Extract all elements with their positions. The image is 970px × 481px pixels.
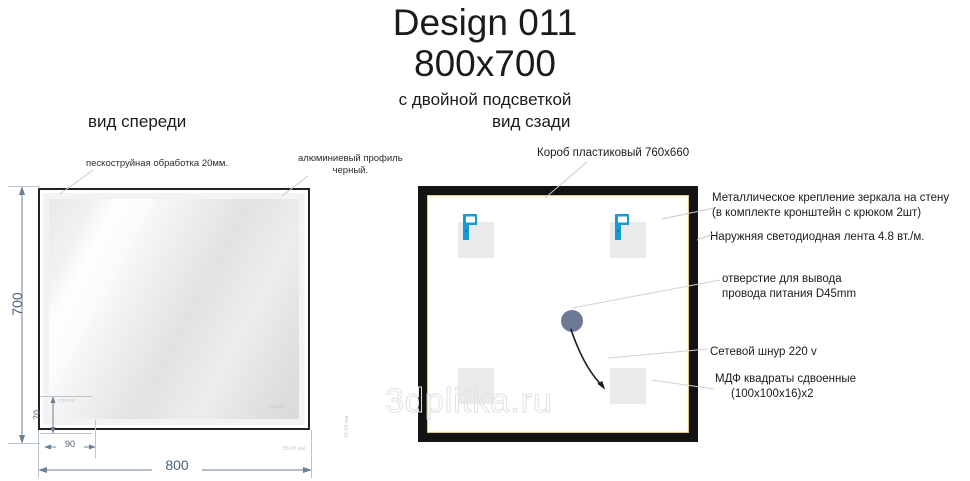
dimension-height-label: 700 bbox=[9, 284, 25, 324]
ext-line-left bbox=[38, 430, 39, 478]
faint-glass-note-left: стекло bbox=[58, 398, 75, 404]
faint-bottom-note: 55,00 мм bbox=[283, 446, 305, 452]
callout-profile: алюминиевый профиль черный. bbox=[298, 153, 403, 177]
callout-wall-mount: Металлическое крепление зеркала на стену… bbox=[712, 191, 949, 220]
dimension-inset-height-label: 70 bbox=[32, 398, 42, 432]
leader-line-sandblast bbox=[60, 168, 120, 194]
dimension-inset-width-label: 90 bbox=[56, 439, 84, 449]
ext-line-bottom bbox=[8, 443, 40, 444]
callout-wall-mount-line1: Металлическое крепление зеркала на стену bbox=[712, 191, 949, 206]
callout-profile-line1: алюминиевый профиль bbox=[298, 153, 403, 165]
leader-line-wall-mount bbox=[662, 207, 714, 221]
leader-line-power-cord bbox=[608, 345, 708, 361]
dimension-inset-height bbox=[46, 396, 60, 434]
callout-box-size: Короб пластиковый 760x660 bbox=[537, 146, 689, 161]
leader-line-mdf bbox=[652, 378, 714, 392]
watermark: 3dplitka.ru bbox=[385, 382, 553, 421]
page-note: с двойной подсветкой bbox=[0, 90, 970, 110]
leader-line-led bbox=[697, 232, 713, 242]
cable-outlet-hole bbox=[561, 310, 583, 332]
front-mirror-frame bbox=[38, 188, 310, 430]
front-view-label: вид спереди bbox=[88, 112, 186, 132]
page-title: Design 011 bbox=[0, 2, 970, 44]
callout-profile-line2: черный. bbox=[298, 165, 403, 177]
ext-inset-top bbox=[40, 396, 92, 397]
ext-line-right bbox=[311, 430, 312, 478]
page-subtitle-size: 800x700 bbox=[0, 43, 970, 85]
faint-side-note: 45,00 мм bbox=[344, 416, 350, 438]
ext-inset-right bbox=[95, 420, 96, 458]
wall-bracket-right-icon bbox=[614, 214, 630, 240]
leader-line-profile bbox=[282, 176, 328, 196]
callout-cable-hole-line2: провода питания D45mm bbox=[722, 287, 856, 302]
dimension-width-label: 800 bbox=[152, 457, 202, 473]
leader-line-cable-hole bbox=[572, 278, 720, 312]
callout-power-cord: Сетевой шнур 220 v bbox=[710, 345, 817, 360]
mirror-glass-surface bbox=[49, 199, 299, 419]
callout-mdf-line2: (100x100x16)x2 bbox=[715, 387, 856, 402]
ext-line-top bbox=[8, 186, 40, 187]
mirror-led-glow bbox=[43, 193, 305, 425]
callout-cable-hole-line1: отверстие для вывода bbox=[722, 272, 856, 287]
wall-bracket-left-icon bbox=[462, 214, 478, 240]
leader-line-box bbox=[545, 162, 605, 198]
faint-glass-note-right: стекло bbox=[268, 404, 285, 410]
back-view-label: вид сзади bbox=[492, 112, 570, 132]
callout-led: Наружняя светодиодная лента 4.8 вт./м. bbox=[710, 230, 924, 245]
mdf-square-bottom-right bbox=[610, 368, 646, 404]
callout-wall-mount-line2: (в комплекте кронштейн с крюком 2шт) bbox=[712, 206, 949, 221]
callout-mdf-line1: МДФ квадраты сдвоенные bbox=[715, 372, 856, 387]
callout-mdf: МДФ квадраты сдвоенные (100x100x16)x2 bbox=[715, 372, 856, 401]
callout-cable-hole: отверстие для вывода провода питания D45… bbox=[722, 272, 856, 301]
diagram-canvas: Design 011 800x700 с двойной подсветкой … bbox=[0, 0, 970, 481]
ext-inset-bottom bbox=[40, 433, 92, 434]
